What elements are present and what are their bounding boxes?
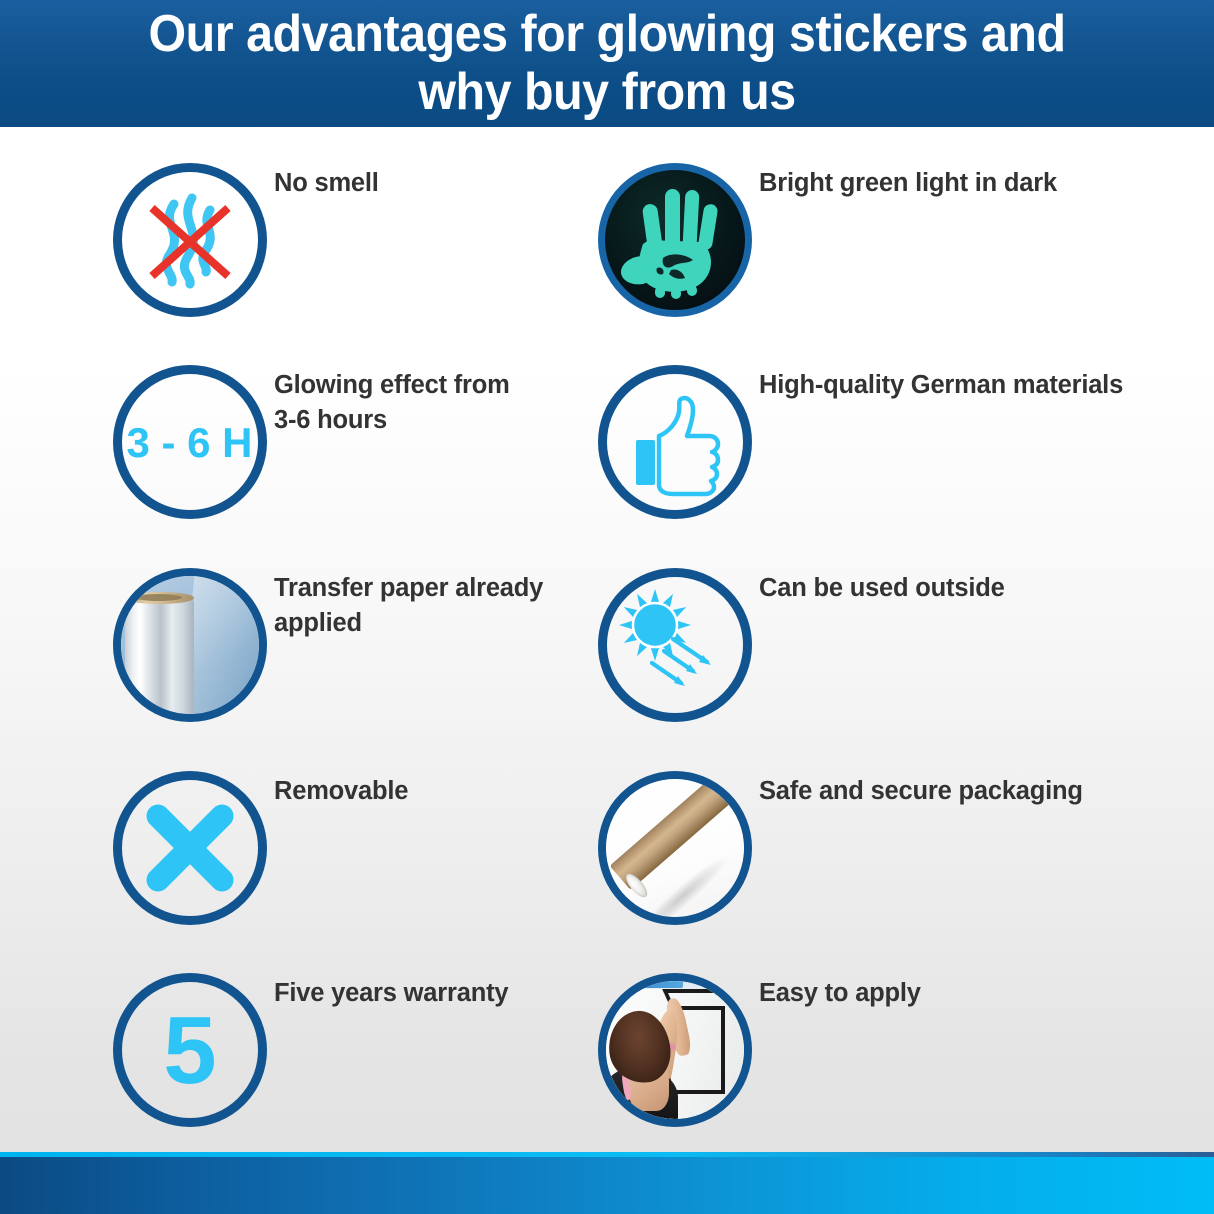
feature-item-easy-to-apply: Easy to apply [598, 973, 1088, 1127]
no-smell-glyph [122, 172, 258, 308]
feature-item-used-outside: Can be used outside [598, 568, 1088, 722]
cross-x-icon [113, 771, 267, 925]
feature-label: Safe and secure packaging [759, 774, 1199, 809]
applying-sticker-photo [606, 981, 744, 1119]
glowing-handprint-icon [598, 163, 752, 317]
duration-3-6-hours-icon: 3 - 6 H [113, 365, 267, 519]
feature-item-transfer-paper: Transfer paper already applied [113, 568, 603, 722]
feature-item-glow-duration: 3 - 6 H Glowing effect from 3-6 hours [113, 365, 603, 519]
woman-applying-sticker-icon [598, 973, 752, 1127]
handprint-glyph [605, 170, 745, 310]
thumbs-up-icon [598, 365, 752, 519]
infographic-page: Our advantages for glowing stickers and … [0, 0, 1214, 1214]
thumbs-up-glyph [607, 374, 743, 510]
page-title: Our advantages for glowing stickers and … [141, 5, 1073, 121]
header-banner: Our advantages for glowing stickers and … [0, 0, 1214, 127]
transfer-paper-roll-icon [113, 568, 267, 722]
feature-label: Can be used outside [759, 571, 1199, 606]
feature-item-no-smell: No smell [113, 163, 603, 317]
five-years-icon: 5 [113, 973, 267, 1127]
feature-item-secure-packaging: Safe and secure packaging [598, 771, 1088, 925]
feature-item-german-materials: High-quality German materials [598, 365, 1088, 519]
mailing-tube-icon [598, 771, 752, 925]
feature-label: Easy to apply [759, 976, 1199, 1011]
feature-item-glow-in-dark: Bright green light in dark [598, 163, 1088, 317]
no-smell-icon [113, 163, 267, 317]
sun-glyph [607, 577, 743, 713]
footer-banner [0, 1157, 1214, 1214]
features-grid: No smell [0, 127, 1214, 1152]
cross-x-glyph [122, 780, 258, 916]
warranty-icon-text: 5 [163, 1003, 216, 1099]
feature-item-removable: Removable [113, 771, 603, 925]
feature-label: High-quality German materials [759, 368, 1199, 403]
mailing-tube-photo [606, 779, 744, 917]
duration-icon-text: 3 - 6 H [126, 419, 252, 467]
feature-label: Bright green light in dark [759, 166, 1199, 201]
feature-item-warranty: 5 Five years warranty [113, 973, 603, 1127]
sun-with-rays-icon [598, 568, 752, 722]
transfer-paper-photo [121, 576, 259, 714]
